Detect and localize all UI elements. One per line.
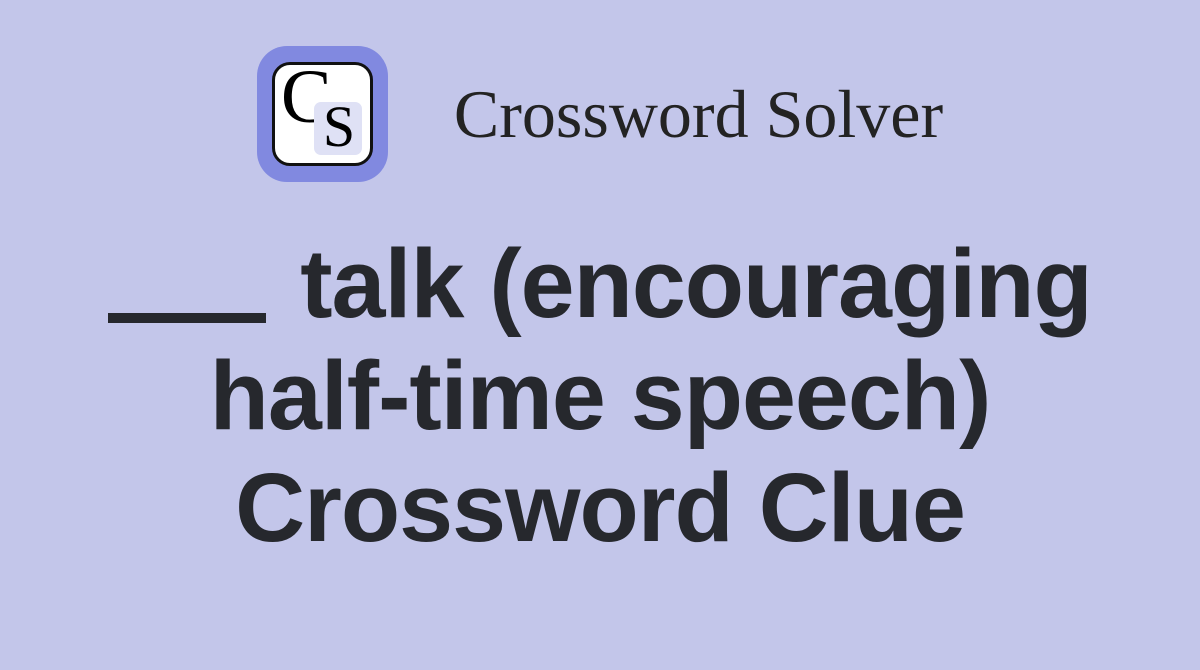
headline-line2: half-time speech) bbox=[210, 341, 991, 450]
headline-line1-rest: talk (encouraging bbox=[274, 229, 1091, 338]
crossword-solver-logo[interactable]: C S bbox=[257, 46, 388, 182]
headline-line3: Crossword Clue bbox=[235, 453, 965, 562]
headline-container: talk (encouraging half-time speech) Cros… bbox=[0, 228, 1200, 564]
logo-letter-s: S bbox=[323, 98, 355, 156]
logo-inner-card: C S bbox=[272, 62, 373, 166]
brand-header[interactable]: C S Crossword Solver bbox=[0, 34, 1200, 194]
brand-title[interactable]: Crossword Solver bbox=[454, 80, 943, 148]
blank-underscore bbox=[108, 313, 266, 323]
page-root: C S Crossword Solver talk (encouraging h… bbox=[0, 0, 1200, 670]
page-title: talk (encouraging half-time speech) Cros… bbox=[100, 228, 1100, 564]
